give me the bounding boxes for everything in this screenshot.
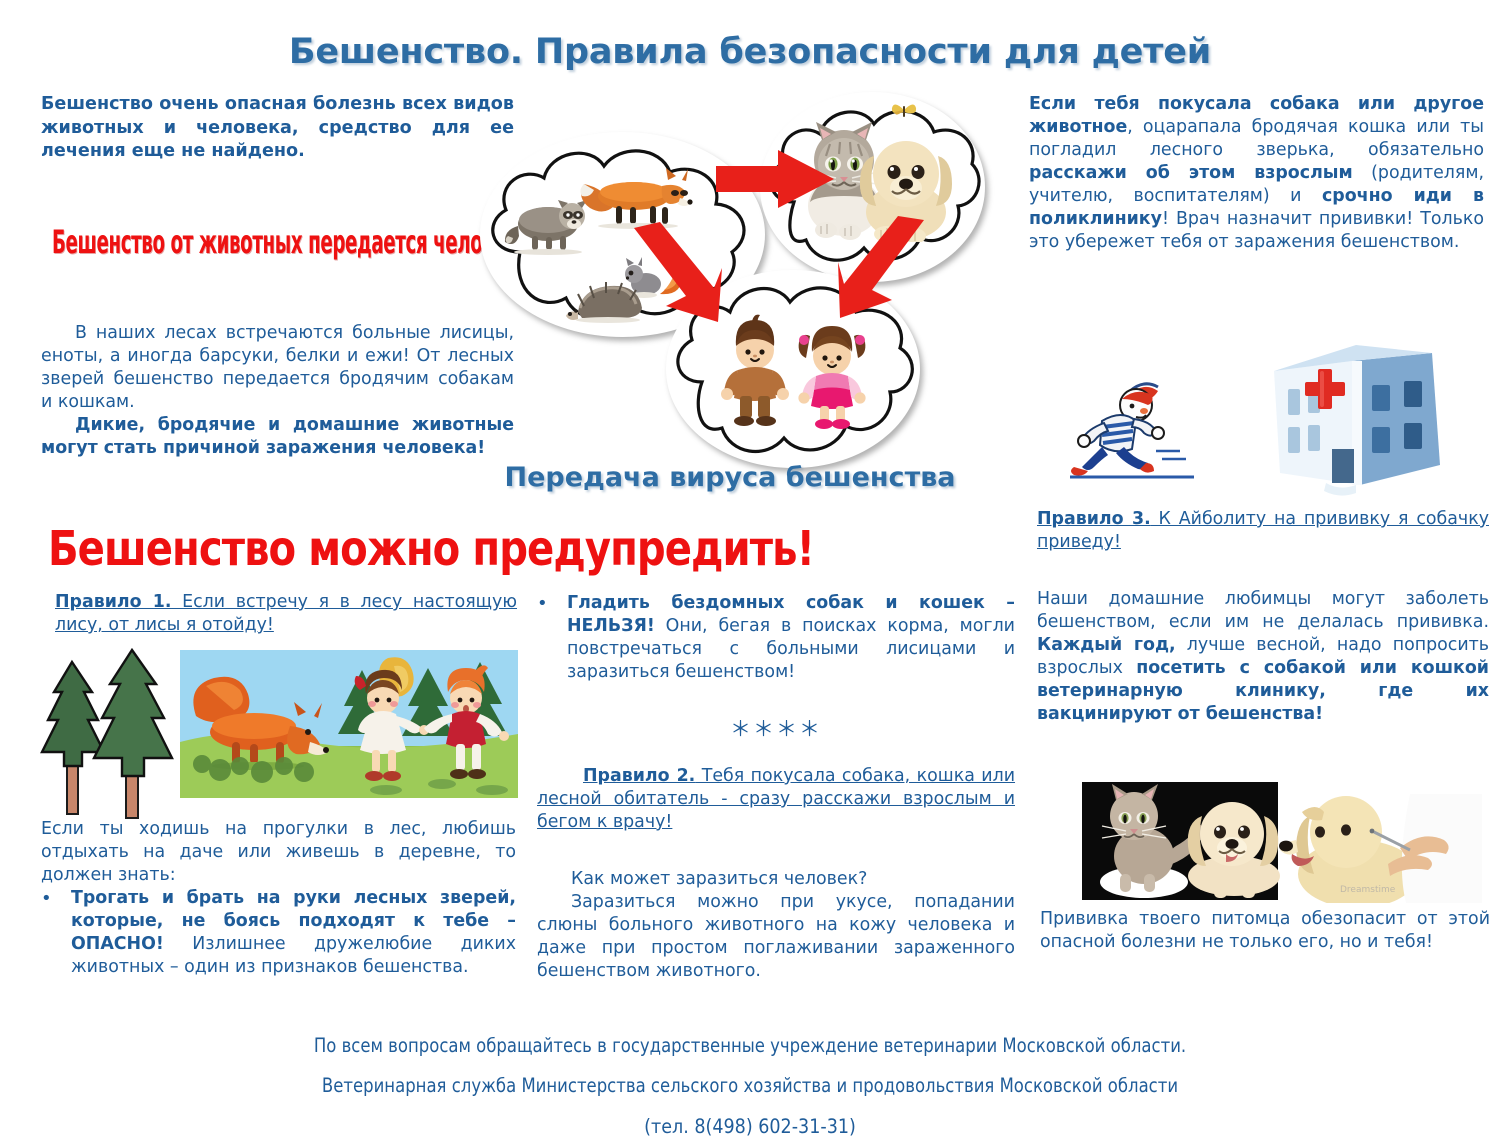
bullet-dot-icon: •: [41, 887, 71, 979]
left-forest-bold: Дикие, бродячие и домашние животные могу…: [41, 414, 514, 460]
arrow-wild-to-pets: [716, 148, 836, 214]
rule-3-text: Правило 3. К Айболиту на прививку я соба…: [1037, 508, 1489, 554]
left-walk-bullet-body: Трогать и брать на руки лесных зверей, к…: [71, 887, 516, 979]
fox-illustration: [576, 162, 694, 230]
running-boy-icon: [1070, 373, 1198, 489]
right-intro-bold-2: расскажи об этом взрослым: [1029, 163, 1353, 183]
rule-1-text: Правило 1. Если встречу я в лесу настоящ…: [55, 591, 517, 637]
footer-line-1: По всем вопросам обращайтесь в государст…: [45, 1036, 1455, 1056]
rule-3-label: Правило 3.: [1037, 509, 1151, 529]
left-walk-bullet-row: • Трогать и брать на руки лесных зверей,…: [41, 887, 516, 979]
middle-how-infect-block: Как может заразиться человек? Заразиться…: [537, 868, 1015, 983]
fox-and-children-illustration: [180, 650, 518, 798]
pine-trees-illustration: [40, 648, 175, 820]
rule-2-block: Правило 2. Тебя покусала собака, кошка и…: [537, 765, 1015, 834]
how-infect-question: Как может заразиться человек?: [537, 868, 1015, 891]
left-forest-plain: В наших лесах встречаются больные лисицы…: [41, 322, 514, 414]
poster-root: Бешенство. Правила безопасности для дете…: [0, 0, 1500, 1125]
boy-illustration: [718, 312, 792, 428]
left-walk-block: Если ты ходишь на прогулки в лес, любишь…: [41, 818, 516, 979]
middle-stray-pets-block: • Гладить бездомных собак и кошек – НЕЛЬ…: [537, 592, 1015, 684]
rule-1-block: Правило 1. Если встречу я в лесу настоящ…: [55, 591, 517, 637]
rule-3-block: Правило 3. К Айболиту на прививку я соба…: [1037, 508, 1489, 554]
right-pets-bold-1: Каждый год,: [1037, 635, 1176, 655]
middle-bullet-body: Гладить бездомных собак и кошек – НЕЛЬЗЯ…: [567, 592, 1015, 684]
bullet-dot-icon: •: [537, 592, 567, 684]
rule-2-label: Правило 2.: [583, 766, 695, 786]
middle-bullet-row: • Гладить бездомных собак и кошек – НЕЛЬ…: [537, 592, 1015, 684]
right-vaccination-note: Прививка твоего питомца обезопасит от эт…: [1040, 908, 1490, 954]
diagram-caption: Передача вируса бешенства: [480, 462, 980, 493]
svg-text:Dreamstime: Dreamstime: [1340, 885, 1396, 895]
butterfly-illustration: [890, 100, 918, 120]
section-headline-prevent: Бешенство можно предупредить!: [48, 521, 814, 577]
girl-illustration: [794, 318, 870, 430]
right-intro-paragraph: Если тебя покусала собака или другое жив…: [1029, 93, 1484, 254]
left-intro-paragraph: Бешенство очень опасная болезнь всех вид…: [41, 93, 514, 164]
left-forest-block: В наших лесах встречаются больные лисицы…: [41, 322, 514, 460]
page-title: Бешенство. Правила безопасности для дете…: [0, 32, 1500, 72]
arrow-wild-to-children: [630, 222, 722, 328]
red-banner-transmission: Бешенство от животных передается человек…: [52, 228, 452, 282]
arrow-pets-to-children: [838, 216, 928, 324]
rule-2-text: Правило 2. Тебя покусала собака, кошка и…: [537, 765, 1015, 834]
footer-phone: (тел. 8(498) 602-31-31): [0, 1115, 1500, 1138]
vaccination-photo: Dreamstime: [1058, 778, 1482, 903]
footer-line-2: Ветеринарная служба Министерства сельско…: [45, 1076, 1455, 1096]
hospital-scene: [1060, 345, 1490, 505]
how-infect-answer: Заразиться можно при укусе, попадании сл…: [537, 891, 1015, 983]
transmission-diagram: [480, 92, 980, 467]
footer: По всем вопросам обращайтесь в государст…: [0, 1036, 1500, 1138]
section-separator-stars: ＊＊＊＊: [537, 713, 1015, 743]
right-pets-plain-1: Наши домашние любимцы могут заболеть беш…: [1037, 589, 1489, 632]
red-banner-text: Бешенство от животных передается человек…: [52, 225, 364, 262]
hospital-building-icon: [1256, 345, 1448, 505]
left-walk-plain: Если ты ходишь на прогулки в лес, любишь…: [41, 818, 516, 887]
rule-1-label: Правило 1.: [55, 592, 171, 612]
right-pets-paragraph: Наши домашние любимцы могут заболеть беш…: [1037, 588, 1489, 726]
